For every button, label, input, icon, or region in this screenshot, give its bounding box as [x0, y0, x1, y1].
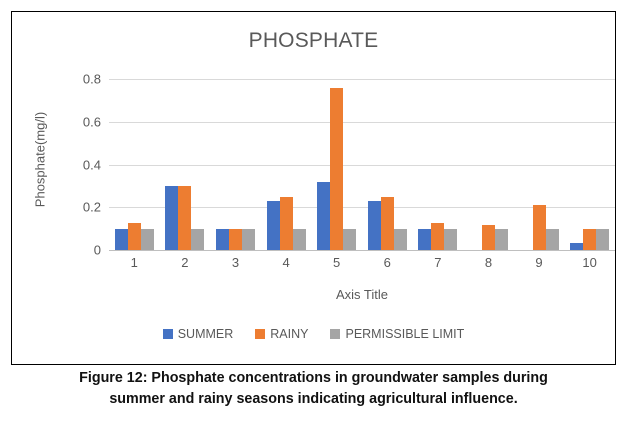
caption-line-1: Figure 12: Phosphate concentrations in g…: [79, 370, 548, 386]
bar-summer: [418, 229, 431, 250]
bar-permissible: [343, 229, 356, 250]
x-axis-tick-label: 9: [514, 255, 565, 270]
bar-permissible: [394, 229, 407, 250]
caption-line-2: summer and rainy seasons indicating agri…: [109, 391, 517, 407]
bar-rainy: [229, 229, 242, 250]
bar-group: [261, 79, 312, 250]
bar-rainy: [431, 223, 444, 250]
bar-permissible: [293, 229, 306, 250]
bar-group: [514, 79, 565, 250]
x-axis-tick-label: 3: [210, 255, 261, 270]
bar-summer: [267, 201, 280, 250]
x-axis-title: Axis Title: [109, 287, 615, 302]
x-axis-tick-label: 6: [362, 255, 413, 270]
bar-rainy: [482, 225, 495, 250]
legend-label: PERMISSIBLE LIMIT: [345, 327, 464, 341]
gridline: [109, 250, 615, 251]
legend-label: RAINY: [270, 327, 308, 341]
bar-permissible: [242, 229, 255, 250]
bar-rainy: [533, 205, 546, 250]
legend-item-summer[interactable]: SUMMER: [163, 327, 234, 341]
bar-rainy: [330, 88, 343, 250]
bar-group: [463, 79, 514, 250]
bar-group: [564, 79, 615, 250]
bar-summer: [216, 229, 229, 250]
legend-swatch-icon: [163, 329, 173, 339]
legend-label: SUMMER: [178, 327, 234, 341]
bar-group: [413, 79, 464, 250]
bar-permissible: [444, 229, 457, 250]
bar-permissible: [546, 229, 559, 250]
bar-rainy: [178, 186, 191, 250]
bar-permissible: [191, 229, 204, 250]
chart-legend: SUMMERRAINYPERMISSIBLE LIMIT: [12, 327, 615, 341]
chart-title: PHOSPHATE: [12, 29, 615, 53]
bar-summer: [317, 182, 330, 250]
x-axis-tick-label: 7: [413, 255, 464, 270]
y-axis-tick-label: 0.6: [83, 114, 101, 129]
x-axis-tick-label: 4: [261, 255, 312, 270]
x-axis-tick-label: 5: [311, 255, 362, 270]
bar-rainy: [128, 223, 141, 250]
x-axis-tick-labels: 12345678910: [109, 255, 615, 270]
bar-summer: [115, 229, 128, 250]
bar-series-layer: [109, 79, 615, 250]
bar-summer: [570, 243, 583, 250]
bar-summer: [368, 201, 381, 250]
bar-group: [160, 79, 211, 250]
bar-group: [311, 79, 362, 250]
chart-frame: PHOSPHATE Phosphate(mg/l) 00.20.40.60.8 …: [11, 11, 616, 365]
legend-item-rainy[interactable]: RAINY: [255, 327, 308, 341]
y-axis-tick-label: 0.8: [83, 72, 101, 87]
x-axis-tick-label: 2: [160, 255, 211, 270]
bar-rainy: [381, 197, 394, 250]
bar-permissible: [141, 229, 154, 250]
x-axis-tick-label: 10: [564, 255, 615, 270]
bar-group: [109, 79, 160, 250]
bar-group: [362, 79, 413, 250]
bar-permissible: [495, 229, 508, 250]
y-axis-title: Phosphate(mg/l): [33, 85, 48, 235]
bar-group: [210, 79, 261, 250]
legend-swatch-icon: [330, 329, 340, 339]
x-axis-tick-label: 8: [463, 255, 514, 270]
figure-container: PHOSPHATE Phosphate(mg/l) 00.20.40.60.8 …: [0, 0, 627, 430]
legend-item-permissible[interactable]: PERMISSIBLE LIMIT: [330, 327, 464, 341]
x-axis-tick-label: 1: [109, 255, 160, 270]
bar-permissible: [596, 229, 609, 250]
y-axis-tick-label: 0.4: [83, 157, 101, 172]
bar-rainy: [583, 229, 596, 250]
legend-swatch-icon: [255, 329, 265, 339]
figure-caption: Figure 12: Phosphate concentrations in g…: [11, 368, 616, 409]
bar-rainy: [280, 197, 293, 250]
bar-summer: [165, 186, 178, 250]
y-axis-tick-label: 0: [94, 243, 101, 258]
plot-area: 00.20.40.60.8: [109, 79, 615, 250]
y-axis-tick-label: 0.2: [83, 200, 101, 215]
